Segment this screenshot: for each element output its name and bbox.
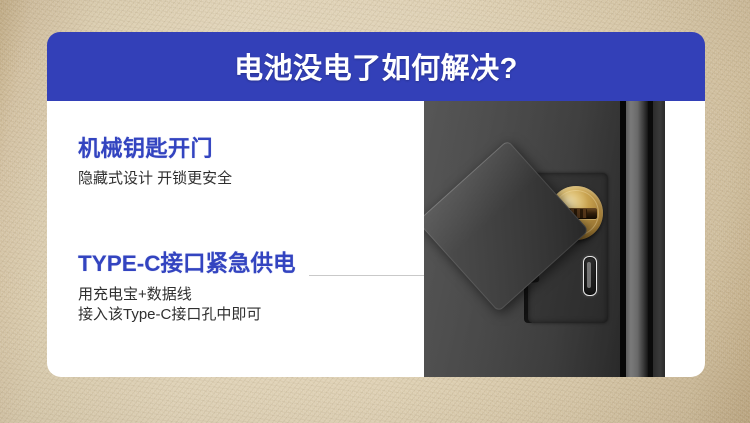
port-inner	[587, 262, 591, 288]
feature-block-typec: TYPE-C接口紧急供电 用充电宝+数据线 接入该Type-C接口孔中即可	[78, 253, 296, 325]
feature-block-mechanical-key: 机械钥匙开门 隐藏式设计 开锁更安全	[78, 138, 232, 189]
feature-heading: TYPE-C接口紧急供电	[78, 253, 296, 276]
page-title: 电池没电了如何解决?	[47, 45, 705, 87]
door-frame-seam-light	[626, 101, 648, 377]
feature-subtext-line2: 接入该Type-C接口孔中即可	[78, 305, 296, 325]
type-c-port-icon	[583, 256, 597, 296]
feature-heading: 机械钥匙开门	[78, 138, 232, 160]
promo-graphic: 电池没电了如何解决? 机械钥匙开门 隐藏式设计 开锁更安全 TYPE-C接口紧急…	[0, 0, 750, 423]
door-lock-photo	[424, 101, 665, 377]
feature-subtext: 隐藏式设计 开锁更安全	[78, 169, 232, 189]
feature-subtext-line1: 隐藏式设计 开锁更安全	[78, 170, 232, 187]
content-card: 机械钥匙开门 隐藏式设计 开锁更安全 TYPE-C接口紧急供电 用充电宝+数据线…	[47, 101, 705, 377]
feature-subtext-line1: 用充电宝+数据线	[78, 286, 192, 303]
feature-subtext: 用充电宝+数据线 接入该Type-C接口孔中即可	[78, 285, 296, 325]
title-banner: 电池没电了如何解决?	[47, 32, 705, 102]
door-frame-edge	[653, 101, 665, 377]
